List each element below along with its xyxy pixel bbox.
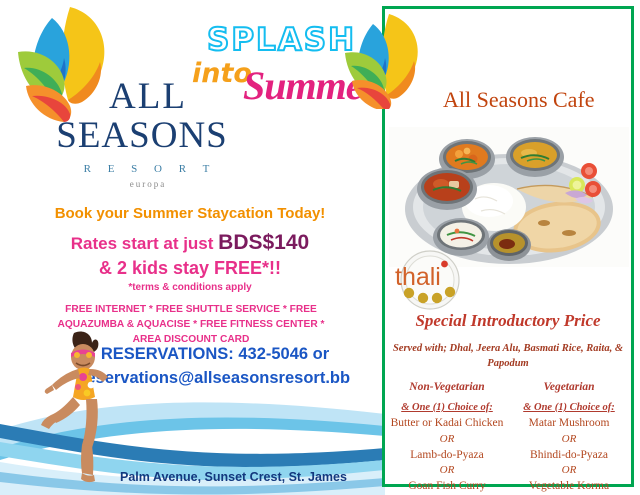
menu-item: Butter or Kadai Chicken: [387, 417, 507, 431]
menu-choice-label: & One (1) Choice of:: [509, 402, 629, 413]
special-price-heading: Special Introductory Price: [385, 311, 631, 331]
rates-line: Rates start at just BDS$140: [0, 231, 380, 255]
menu-separator: OR: [387, 464, 507, 476]
menu-item: Goan Fish Curry: [387, 480, 507, 494]
flyer-canvas: ALL SEASONS R E S O R T europa SPLASH in…: [0, 0, 640, 495]
menu-item: Vegetable Korma: [509, 480, 629, 494]
resort-brand-line2: SEASONS: [36, 117, 248, 156]
menu-separator: OR: [387, 433, 507, 445]
served-with-line: Served with; Dhal, Jeera Alu, Basmati Ri…: [391, 341, 625, 371]
resort-brand-subtitle2: europa: [48, 179, 248, 189]
cafe-four-leaves-logo-icon: [341, 11, 437, 109]
resort-wordmark: ALL SEASONS R E S O R T europa: [48, 78, 248, 189]
terms-line: *terms & conditions apply: [0, 282, 380, 293]
resort-brand-subtitle: R E S O R T: [52, 163, 248, 175]
thali-logo-icon: thali: [387, 249, 473, 311]
menu-column-non-vegetarian: Non-Vegetarian & One (1) Choice of: Butt…: [387, 381, 507, 495]
menu-column-vegetarian: Vegetarian & One (1) Choice of: Matar Mu…: [509, 381, 629, 495]
resort-promo-panel: ALL SEASONS R E S O R T europa SPLASH in…: [0, 0, 380, 495]
menu-column-title: Non-Vegetarian: [387, 381, 507, 393]
menu-separator: OR: [509, 464, 629, 476]
rates-prefix: Rates start at just: [71, 234, 218, 253]
cafe-title: All Seasons Cafe: [443, 87, 595, 113]
svg-text:thali: thali: [395, 263, 441, 291]
jumping-girl-photo: [28, 325, 128, 490]
menu-column-title: Vegetarian: [509, 381, 629, 393]
menu-separator: OR: [509, 433, 629, 445]
cafe-menu-panel: All Seasons Cafe: [382, 6, 634, 487]
menu-choice-label: & One (1) Choice of:: [387, 402, 507, 413]
menu-item: Lamb-do-Pyaza: [387, 449, 507, 463]
splash-headline-word: SPLASH: [207, 22, 356, 58]
kids-free-line: & 2 kids stay FREE*!!: [0, 258, 380, 279]
thali-platter-photo: [389, 127, 629, 267]
promo-headline: Book your Summer Staycation Today!: [0, 205, 380, 222]
menu-item: Matar Mushroom: [509, 417, 629, 431]
rates-amount: BDS$140: [218, 231, 309, 254]
menu-item: Bhindi-do-Pyaza: [509, 449, 629, 463]
address-line: Palm Avenue, Sunset Crest, St. James: [120, 470, 380, 484]
